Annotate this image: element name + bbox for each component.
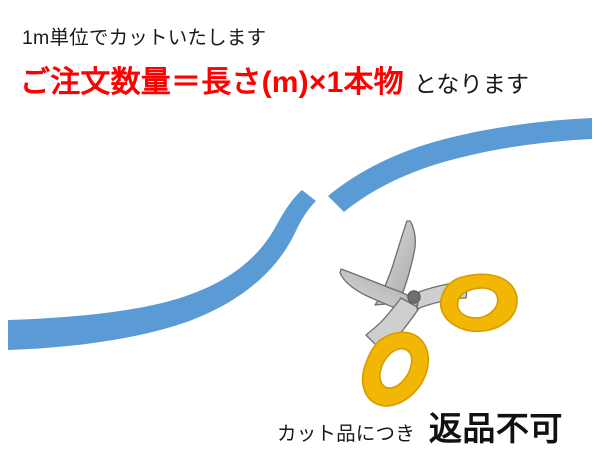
headline-tail-text: となります bbox=[404, 71, 529, 97]
top-note-text: 1m単位でカットいたします bbox=[22, 29, 266, 49]
scissors-handle-left bbox=[363, 332, 429, 406]
scissors-pivot-icon bbox=[408, 291, 420, 303]
scissors-blade-lower bbox=[340, 269, 419, 314]
scissors-blade-upper bbox=[375, 221, 415, 305]
scissors-handle-right bbox=[441, 274, 517, 331]
headline-emphasis-text: ご注文数量＝長さ(m)×1本物 bbox=[20, 66, 404, 99]
footer-note: カット品につき返品不可 bbox=[277, 412, 563, 445]
scissors-shank-upper bbox=[417, 281, 468, 309]
blue-cord-left-segment bbox=[8, 190, 316, 350]
headline: ご注文数量＝長さ(m)×1本物となります bbox=[20, 68, 529, 98]
notice-graphic: 1m単位でカットいたします ご注文数量＝長さ(m)×1本物となります カット品に… bbox=[0, 0, 600, 466]
blue-cord-right-segment bbox=[328, 118, 592, 212]
footer-note-text: カット品につき bbox=[277, 423, 415, 445]
footer-emphasis-text: 返品不可 bbox=[415, 410, 563, 447]
scissors-shank-lower bbox=[366, 298, 419, 351]
scissors bbox=[340, 221, 517, 406]
